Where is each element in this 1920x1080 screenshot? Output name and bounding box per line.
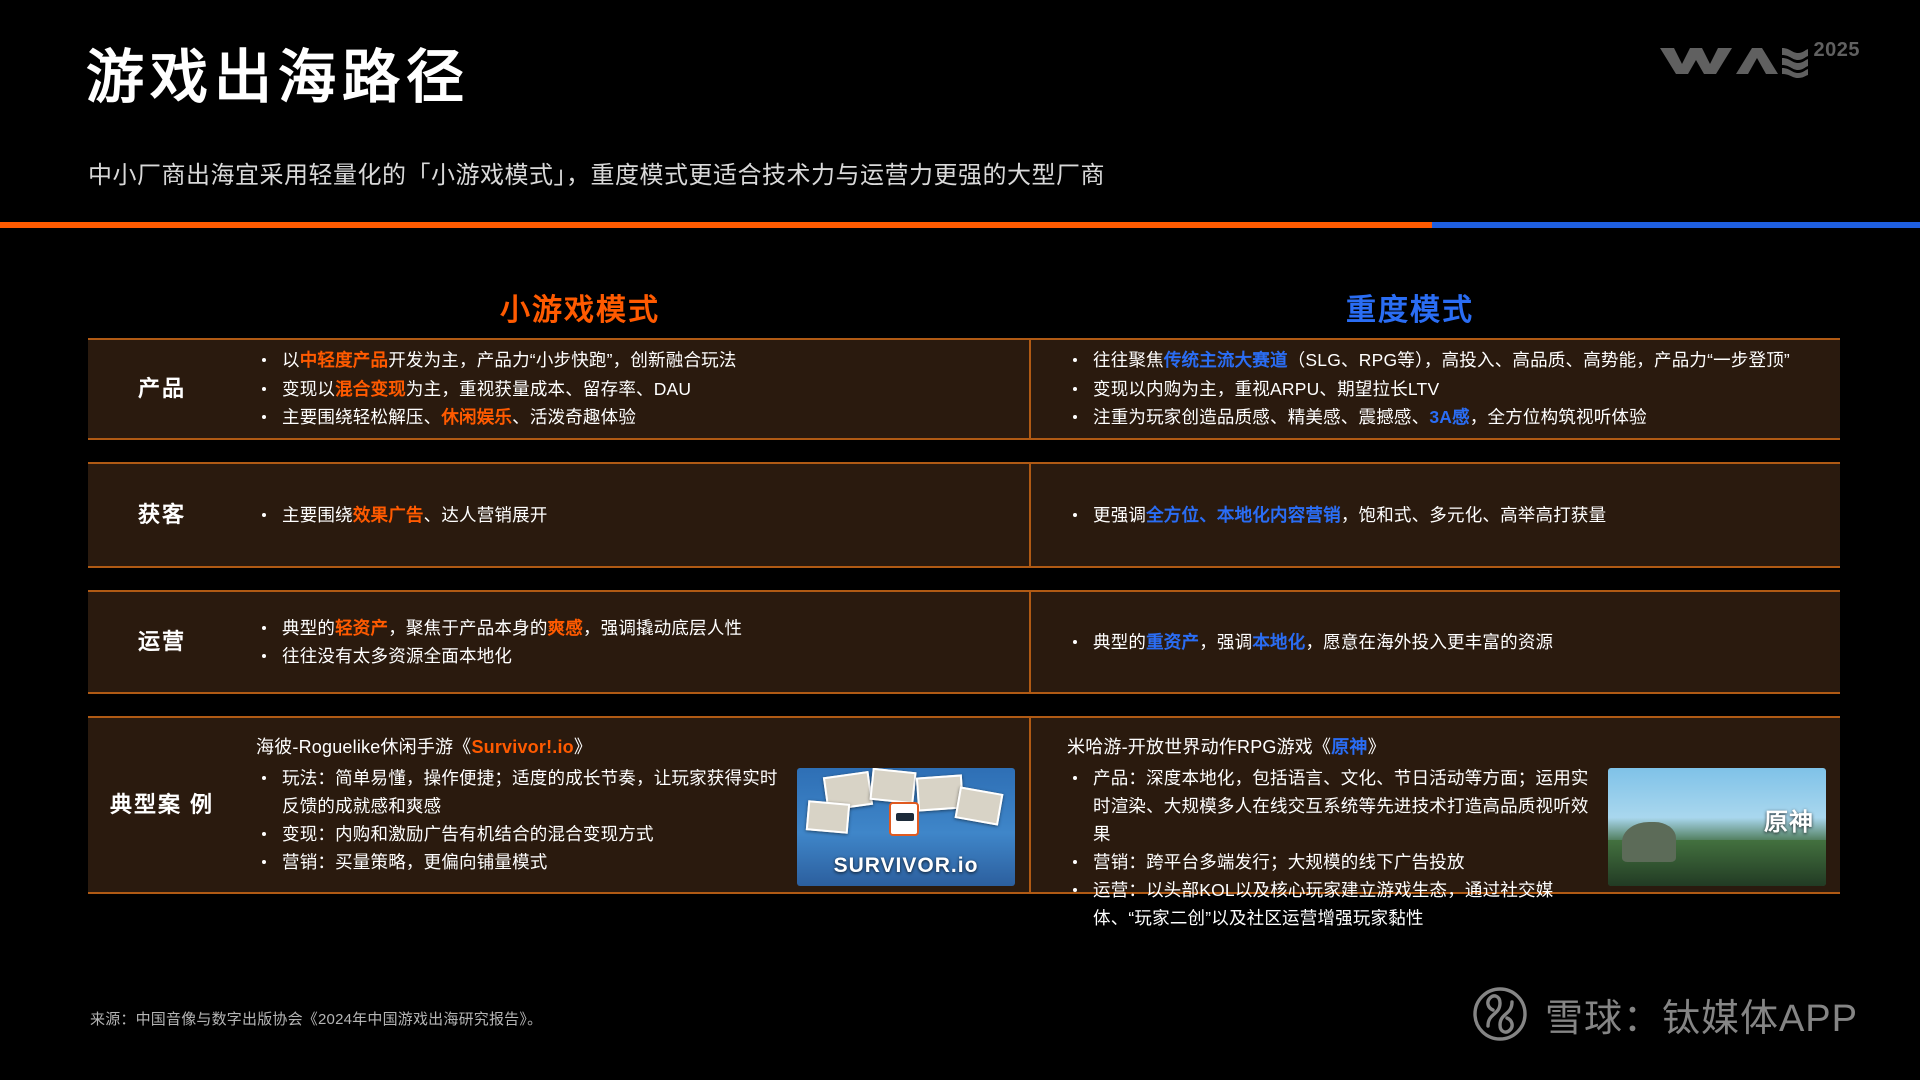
plain-text: 米哈游-开放世界动作RPG游戏《: [1067, 737, 1331, 757]
plain-text: 产品：深度本地化，包括语言、文化、节日活动等方面；运用实时渲染、大规模多人在线交…: [1093, 768, 1589, 844]
plain-text: 为主，重视获量成本、留存率、DAU: [406, 379, 691, 399]
row-category-label: 典型案 例: [88, 718, 236, 892]
table-row: 运营 典型的轻资产，聚焦于产品本身的爽感，强调撬动底层人性往往没有太多资源全面本…: [88, 590, 1840, 694]
plain-text: 往往聚焦: [1093, 350, 1164, 370]
case-body-left: 玩法：简单易懂，操作便捷；适度的成长节奏，让玩家获得实时反馈的成就感和爽感变现：…: [256, 764, 1015, 886]
highlighted-text: 中轻度产品: [300, 350, 389, 370]
bullet-item: 变现：内购和激励广告有机结合的混合变现方式: [256, 820, 787, 848]
wave-year-label: 2025: [1814, 40, 1861, 60]
bullet-item: 注重为玩家创造品质感、精美感、震撼感、3A感，全方位构筑视听体验: [1067, 403, 1826, 431]
survivor-character-icon: [889, 802, 919, 836]
bullet-item: 运营：以头部KOL以及核心玩家建立游戏生态，通过社交媒体、“玩家二创”以及社区运…: [1067, 876, 1598, 932]
case-body-right: 产品：深度本地化，包括语言、文化、节日活动等方面；运用实时渲染、大规模多人在线交…: [1067, 764, 1826, 932]
row-right-cell: 往往聚焦传统主流大赛道（SLG、RPG等），高投入、高品质、高势能，产品力“一步…: [1031, 340, 1840, 438]
comparison-table: 产品 以中轻度产品开发为主，产品力“小步快跑”，创新融合玩法变现以混合变现为主，…: [88, 338, 1840, 894]
case-thumbnail-label-left: SURVIVOR.io: [797, 854, 1015, 878]
case-title-right: 米哈游-开放世界动作RPG游戏《原神》: [1067, 734, 1826, 761]
bullet-item: 营销：跨平台多端发行；大规模的线下广告投放: [1067, 848, 1598, 876]
divider-orange-segment: [0, 222, 1432, 228]
plain-text: 以: [282, 350, 300, 370]
bullet-item: 玩法：简单易懂，操作便捷；适度的成长节奏，让玩家获得实时反馈的成就感和爽感: [256, 764, 787, 820]
bullet-item: 产品：深度本地化，包括语言、文化、节日活动等方面；运用实时渲染、大规模多人在线交…: [1067, 764, 1598, 848]
bullet-item: 典型的轻资产，聚焦于产品本身的爽感，强调撬动底层人性: [256, 614, 1015, 642]
highlighted-text: 3A感: [1429, 407, 1469, 427]
plain-text: 往往没有太多资源全面本地化: [282, 646, 512, 666]
watermark-text: 雪球：钛媒体APP: [1545, 987, 1858, 1042]
row-category-label: 产品: [88, 340, 236, 438]
case-thumbnail-genshin: 原神: [1608, 768, 1826, 886]
bullet-item: 以中轻度产品开发为主，产品力“小步快跑”，创新融合玩法: [256, 346, 1015, 374]
bullet-item: 变现以混合变现为主，重视获量成本、留存率、DAU: [256, 375, 1015, 403]
row-category-label: 运营: [88, 592, 236, 692]
highlighted-text: 全方位、本地化内容营销: [1146, 505, 1341, 525]
plain-text: 运营：以头部KOL以及核心玩家建立游戏生态，通过社交媒体、“玩家二创”以及社区运…: [1093, 880, 1553, 928]
plain-text: 玩法：简单易懂，操作便捷；适度的成长节奏，让玩家获得实时反馈的成就感和爽感: [282, 768, 778, 816]
plain-text: ，愿意在海外投入更丰富的资源: [1305, 632, 1553, 652]
highlighted-text: 混合变现: [335, 379, 406, 399]
bullet-list: 往往聚焦传统主流大赛道（SLG、RPG等），高投入、高品质、高势能，产品力“一步…: [1067, 346, 1826, 431]
plain-text: 主要围绕: [282, 505, 353, 525]
watermark-xueqiu: 雪球：钛媒体APP: [1471, 985, 1858, 1043]
plain-text: ，强调: [1199, 632, 1252, 652]
row-left-cell: 以中轻度产品开发为主，产品力“小步快跑”，创新融合玩法变现以混合变现为主，重视获…: [236, 340, 1031, 438]
wave-wordmark-icon: [1658, 38, 1808, 78]
plain-text: ，饱和式、多元化、高举高打获量: [1341, 505, 1607, 525]
plain-text: 变现以内购为主，重视ARPU、期望拉长LTV: [1093, 379, 1439, 399]
plain-text: ，聚焦于产品本身的: [388, 618, 547, 638]
page-title: 游戏出海路径: [86, 46, 470, 110]
header-divider: [0, 222, 1920, 228]
page-subtitle: 中小厂商出海宜采用轻量化的「小游戏模式」，重度模式更适合技术力与运营力更强的大型…: [88, 155, 1105, 190]
column-header-heavy: 重度模式: [1160, 285, 1660, 329]
highlighted-text: 轻资产: [335, 618, 388, 638]
table-row: 产品 以中轻度产品开发为主，产品力“小步快跑”，创新融合玩法变现以混合变现为主，…: [88, 338, 1840, 440]
wave-logo: 2025: [1658, 38, 1861, 78]
row-left-cell: 典型的轻资产，聚焦于产品本身的爽感，强调撬动底层人性往往没有太多资源全面本地化: [236, 592, 1031, 692]
case-text-left: 玩法：简单易懂，操作便捷；适度的成长节奏，让玩家获得实时反馈的成就感和爽感变现：…: [256, 764, 787, 876]
highlighted-text: 爽感: [548, 618, 583, 638]
bullet-item: 典型的重资产，强调本地化，愿意在海外投入更丰富的资源: [1067, 628, 1826, 656]
plain-text: 、活泼奇趣体验: [512, 407, 636, 427]
source-note: 来源：中国音像与数字出版协会《2024年中国游戏出海研究报告》。: [90, 1008, 542, 1029]
highlighted-text: Survivor!.io: [471, 737, 573, 757]
case-text-right: 产品：深度本地化，包括语言、文化、节日活动等方面；运用实时渲染、大规模多人在线交…: [1067, 764, 1598, 932]
case-title-left: 海彼-Roguelike休闲手游《Survivor!.io》: [256, 734, 1015, 761]
highlighted-text: 传统主流大赛道: [1164, 350, 1288, 370]
plain-text: 变现：内购和激励广告有机结合的混合变现方式: [282, 824, 654, 844]
plain-text: 海彼-Roguelike休闲手游《: [256, 737, 471, 757]
plain-text: 、达人营销展开: [424, 505, 548, 525]
table-row: 获客 主要围绕效果广告、达人营销展开 更强调全方位、本地化内容营销，饱和式、多元…: [88, 462, 1840, 568]
plain-text: 主要围绕轻松解压、: [282, 407, 441, 427]
case-thumbnail-label-right: 原神: [1764, 802, 1814, 837]
highlighted-text: 休闲娱乐: [441, 407, 512, 427]
plain-text: ，全方位构筑视听体验: [1470, 407, 1647, 427]
bullet-list: 典型的重资产，强调本地化，愿意在海外投入更丰富的资源: [1067, 628, 1826, 656]
case-left-cell: 海彼-Roguelike休闲手游《Survivor!.io》 玩法：简单易懂，操…: [236, 718, 1031, 892]
highlighted-text: 原神: [1331, 737, 1367, 757]
bullet-item: 主要围绕轻松解压、休闲娱乐、活泼奇趣体验: [256, 403, 1015, 431]
plain-text: 营销：跨平台多端发行；大规模的线下广告投放: [1093, 852, 1465, 872]
bullet-item: 更强调全方位、本地化内容营销，饱和式、多元化、高举高打获量: [1067, 501, 1826, 529]
plain-text: ，强调撬动底层人性: [583, 618, 742, 638]
divider-blue-segment: [1432, 222, 1920, 228]
bullet-list: 玩法：简单易懂，操作便捷；适度的成长节奏，让玩家获得实时反馈的成就感和爽感变现：…: [256, 764, 787, 876]
bullet-list: 典型的轻资产，聚焦于产品本身的爽感，强调撬动底层人性往往没有太多资源全面本地化: [256, 614, 1015, 671]
bullet-item: 往往聚焦传统主流大赛道（SLG、RPG等），高投入、高品质、高势能，产品力“一步…: [1067, 346, 1826, 374]
slide-root: 2025 游戏出海路径 中小厂商出海宜采用轻量化的「小游戏模式」，重度模式更适合…: [0, 0, 1920, 1080]
plain-text: 典型的: [1093, 632, 1146, 652]
bullet-list: 更强调全方位、本地化内容营销，饱和式、多元化、高举高打获量: [1067, 501, 1826, 529]
row-category-label: 获客: [88, 464, 236, 566]
plain-text: 》: [1368, 737, 1386, 757]
plain-text: 更强调: [1093, 505, 1146, 525]
highlighted-text: 效果广告: [353, 505, 424, 525]
case-thumbnail-survivor: SURVIVOR.io: [797, 768, 1015, 886]
row-right-cell: 更强调全方位、本地化内容营销，饱和式、多元化、高举高打获量: [1031, 464, 1840, 566]
plain-text: 注重为玩家创造品质感、精美感、震撼感、: [1093, 407, 1429, 427]
bullet-item: 变现以内购为主，重视ARPU、期望拉长LTV: [1067, 375, 1826, 403]
xueqiu-logo-icon: [1471, 985, 1529, 1043]
highlighted-text: 重资产: [1146, 632, 1199, 652]
bullet-list: 产品：深度本地化，包括语言、文化、节日活动等方面；运用实时渲染、大规模多人在线交…: [1067, 764, 1598, 932]
row-right-cell: 典型的重资产，强调本地化，愿意在海外投入更丰富的资源: [1031, 592, 1840, 692]
plain-text: 典型的: [282, 618, 335, 638]
plain-text: 变现以: [282, 379, 335, 399]
table-row-case-study: 典型案 例 海彼-Roguelike休闲手游《Survivor!.io》 玩法：…: [88, 716, 1840, 894]
plain-text: 》: [574, 737, 592, 757]
plain-text: 营销：买量策略，更偏向铺量模式: [282, 852, 548, 872]
plain-text: 开发为主，产品力“小步快跑”，创新融合玩法: [388, 350, 736, 370]
row-left-cell: 主要围绕效果广告、达人营销展开: [236, 464, 1031, 566]
bullet-item: 往往没有太多资源全面本地化: [256, 642, 1015, 670]
bullet-item: 主要围绕效果广告、达人营销展开: [256, 501, 1015, 529]
highlighted-text: 本地化: [1252, 632, 1305, 652]
bullet-list: 以中轻度产品开发为主，产品力“小步快跑”，创新融合玩法变现以混合变现为主，重视获…: [256, 346, 1015, 431]
column-header-light: 小游戏模式: [330, 285, 830, 329]
genshin-rock-icon: [1622, 822, 1676, 862]
bullet-list: 主要围绕效果广告、达人营销展开: [256, 501, 1015, 529]
bullet-item: 营销：买量策略，更偏向铺量模式: [256, 848, 787, 876]
case-right-cell: 米哈游-开放世界动作RPG游戏《原神》 产品：深度本地化，包括语言、文化、节日活…: [1031, 718, 1840, 892]
plain-text: （SLG、RPG等），高投入、高品质、高势能，产品力“一步登顶”: [1288, 350, 1790, 370]
